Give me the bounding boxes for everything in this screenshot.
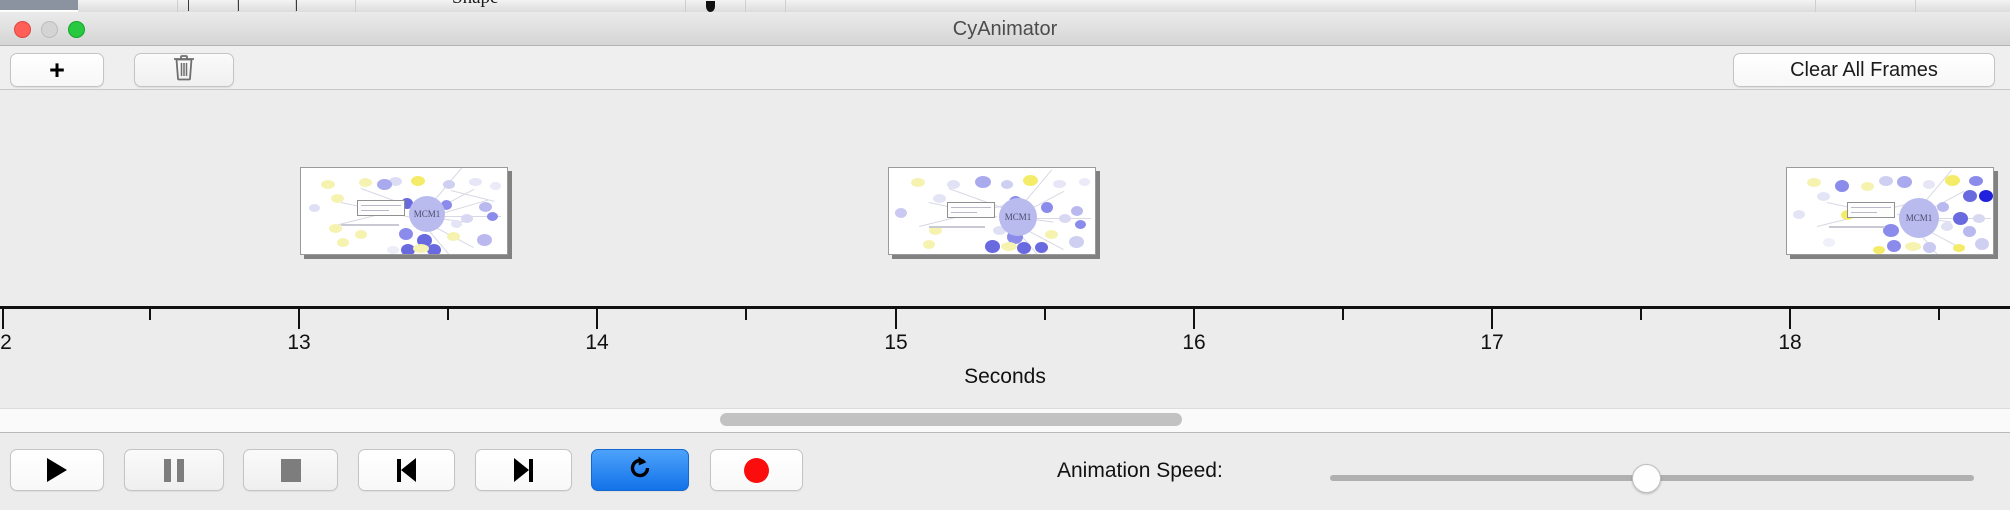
axis-tick-label: 14 [585,331,608,355]
previous-frame-button[interactable] [358,449,455,491]
skip-backward-icon [397,458,416,482]
frame-thumbnail[interactable]: MCM1 [888,167,1096,255]
title-bar: CyAnimator [0,12,2010,46]
record-icon [744,458,769,483]
window-title: CyAnimator [0,12,2010,46]
record-button[interactable] [710,449,803,491]
delete-frame-button[interactable] [134,53,234,87]
loop-button[interactable] [591,449,689,491]
timeline-panel[interactable]: MCM1 [0,91,2010,408]
playback-bar: Animation Speed: [0,432,2010,510]
axis-tick-label: 16 [1182,331,1205,355]
cyanimator-window: Shape CyAnimator + Clear All Fra [0,0,2010,510]
axis-tick-label: 2 [0,331,12,355]
axis-tick-minor [1044,309,1046,320]
scrollbar-thumb[interactable] [720,413,1182,426]
axis-tick-major [1491,309,1493,329]
play-button[interactable] [10,449,104,491]
axis-tick-minor [745,309,747,320]
frame-thumbnail[interactable]: MCM1 [1786,167,1994,255]
background-window-titlebar-fragment [0,0,78,10]
frame-thumbnail[interactable]: MCM1 [300,167,508,255]
axis-tick-label: 13 [287,331,310,355]
add-frame-button[interactable]: + [10,53,104,87]
skip-forward-icon [514,458,533,482]
axis-tick-major [596,309,598,329]
axis-tick-minor [447,309,449,320]
stop-icon [281,459,301,482]
axis-tick-major [895,309,897,329]
axis-title: Seconds [0,365,2010,389]
clear-all-frames-label: Clear All Frames [1790,59,1938,82]
background-window-clipped-label: Shape [452,0,498,9]
axis-tick-major [2,309,4,329]
axis-tick-minor [1640,309,1642,320]
trash-icon [172,54,196,86]
axis-tick-label: 15 [884,331,907,355]
axis-tick-major [1193,309,1195,329]
animation-speed-label: Animation Speed: [1057,459,1223,483]
stop-button[interactable] [243,449,338,491]
hub-node-label: MCM1 [409,196,445,232]
loop-icon [625,453,655,488]
clear-all-frames-button[interactable]: Clear All Frames [1733,53,1995,87]
axis-tick-major [298,309,300,329]
axis-tick-minor [1938,309,1940,320]
background-window-strip: Shape [0,0,2010,12]
frames-toolbar: + Clear All Frames [0,46,2010,90]
axis-tick-minor [149,309,151,320]
timeline-axis [0,306,2010,309]
axis-tick-major [1789,309,1791,329]
plus-icon: + [49,57,65,84]
play-icon [47,458,67,482]
next-frame-button[interactable] [475,449,572,491]
axis-tick-minor [1342,309,1344,320]
timeline-scrollbar[interactable] [0,408,2010,432]
axis-tick-label: 18 [1778,331,1801,355]
hub-node-label: MCM1 [999,198,1037,236]
animation-speed-slider-thumb[interactable] [1632,464,1661,493]
pause-button[interactable] [124,449,224,491]
hub-node-label: MCM1 [1899,198,1939,238]
axis-tick-label: 17 [1480,331,1503,355]
pause-icon [164,459,184,482]
